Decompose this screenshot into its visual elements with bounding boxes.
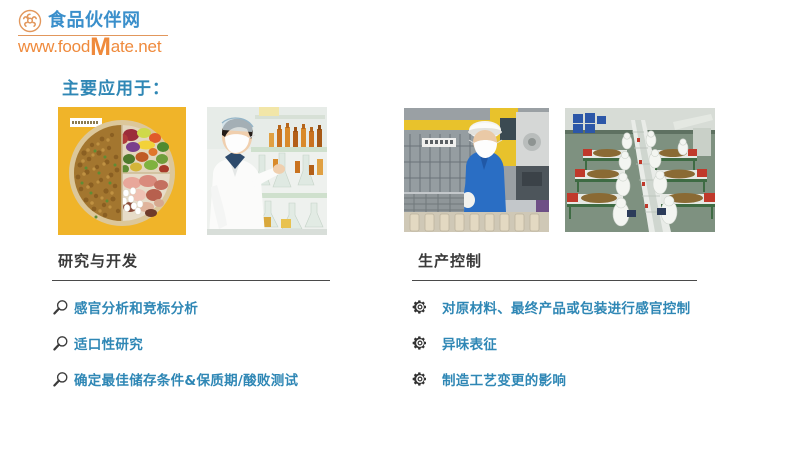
section-research-development: 研究与开发 感官分析和竞标分析 适口性研究 <box>52 250 342 405</box>
photo-sorting-facility-overview <box>565 108 715 232</box>
site-logo[interactable]: 食品伙伴网 www.foodMate.net <box>18 8 188 56</box>
section-production-control: 生产控制 对原材料、最终产品或包装进行感官控制 异味表征 <box>412 250 712 405</box>
page-title: 主要应用于： <box>62 74 170 99</box>
flower-emblem-icon <box>18 9 42 33</box>
logo-top-row: 食品伙伴网 <box>18 8 188 34</box>
list-item[interactable]: 适口性研究 <box>52 333 342 353</box>
list-item-label: 对原材料、最终产品或包装进行感官控制 <box>442 297 690 317</box>
section-heading-production: 生产控制 <box>412 250 712 271</box>
list-item-label: 异味表征 <box>442 333 497 353</box>
list-item[interactable]: 制造工艺变更的影响 <box>412 369 712 389</box>
list-item-label: 确定最佳储存条件&保质期/酸败测试 <box>74 369 298 389</box>
gear-icon <box>412 298 442 316</box>
list-item-label: 感官分析和竞标分析 <box>74 297 198 317</box>
list-item[interactable]: 感官分析和竞标分析 <box>52 297 342 317</box>
list-item[interactable]: 确定最佳储存条件&保质期/酸败测试 <box>52 369 342 389</box>
logo-url-capital: M <box>90 33 111 61</box>
bullet-list-production: 对原材料、最终产品或包装进行感官控制 异味表征 制造工艺变更的影响 <box>412 297 712 389</box>
list-item-label: 制造工艺变更的影响 <box>442 369 566 389</box>
photo-food-composition-plate <box>58 107 186 235</box>
logo-url[interactable]: www.foodMate.net <box>18 37 188 57</box>
section-heading-research: 研究与开发 <box>52 250 342 271</box>
section-divider-research <box>52 280 330 281</box>
logo-url-prefix: www.food <box>18 37 90 56</box>
gear-icon <box>412 370 442 388</box>
magnifier-icon <box>52 370 74 388</box>
list-item[interactable]: 异味表征 <box>412 333 712 353</box>
list-item[interactable]: 对原材料、最终产品或包装进行感官控制 <box>412 297 712 317</box>
logo-chinese-name: 食品伙伴网 <box>48 10 141 32</box>
magnifier-icon <box>52 298 74 316</box>
logo-url-suffix: ate.net <box>111 37 162 56</box>
section-divider-production <box>412 280 697 281</box>
magnifier-icon <box>52 334 74 352</box>
photo-laboratory-technician <box>207 107 327 235</box>
list-item-label: 适口性研究 <box>74 333 143 353</box>
bullet-list-research: 感官分析和竞标分析 适口性研究 确定最佳储存条件&保质期/酸败测试 <box>52 297 342 389</box>
gear-icon <box>412 334 442 352</box>
photo-production-line-worker <box>404 108 549 232</box>
